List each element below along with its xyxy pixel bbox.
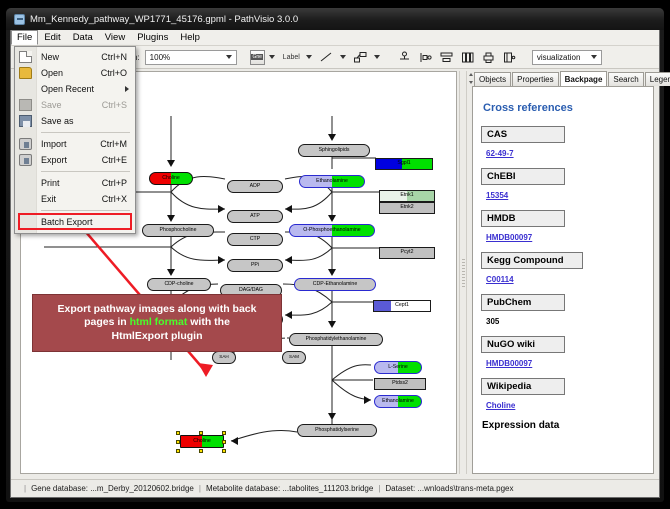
menu-item-batch-export-label: Batch Export	[41, 217, 93, 227]
menu-edit[interactable]: Edit	[38, 30, 66, 45]
menu-file[interactable]: File	[11, 30, 38, 45]
line-dropdown-arrow[interactable]	[340, 55, 346, 59]
callout-line1: Export pathway images along with back	[58, 303, 257, 315]
status-bar: | Gene database: ...m_Derby_20120602.bri…	[11, 479, 659, 497]
application-client-area: File Edit Data View Plugins Help Zoom: 1…	[10, 30, 660, 498]
callout-line2-a: pages in	[84, 316, 130, 328]
submenu-arrow-icon	[125, 86, 129, 92]
side-panel: Objects Properties Backpage Search Legen…	[469, 71, 656, 474]
menu-item-save-as-label: Save as	[41, 116, 74, 126]
xref-value-chebi[interactable]: 15354	[481, 188, 508, 208]
status-divider-1: |	[194, 484, 206, 493]
title-bar: Mm_Kennedy_pathway_WP1771_45176.gpml - P…	[6, 8, 664, 30]
status-gene-database: Gene database: ...m_Derby_20120602.bridg…	[31, 484, 194, 493]
menu-view[interactable]: View	[99, 30, 131, 45]
menu-item-new[interactable]: New Ctrl+N	[15, 49, 135, 65]
visualization-value: visualization	[537, 53, 581, 62]
status-divider-0: |	[19, 484, 31, 493]
menu-data[interactable]: Data	[67, 30, 99, 45]
tab-scroll-down-icon	[469, 81, 473, 84]
menu-item-save: Save Ctrl+S	[15, 97, 135, 113]
menu-item-save-label: Save	[41, 100, 62, 110]
tab-scroll-arrows[interactable]	[469, 73, 474, 84]
xref-header-hmdb: HMDB	[481, 210, 565, 227]
menu-item-import[interactable]: Import Ctrl+M	[15, 136, 135, 152]
xref-value-cas[interactable]: 62-49-7	[481, 146, 514, 166]
side-panel-tabs: Objects Properties Backpage Search Legen…	[469, 71, 656, 86]
printer-icon	[482, 51, 495, 64]
distribute-icon	[440, 51, 453, 64]
pathvisio-icon	[14, 14, 25, 25]
callout-line3: HtmlExport plugin	[112, 330, 203, 342]
export-icon	[19, 154, 32, 166]
menu-separator-2	[41, 171, 130, 172]
xref-header-pubchem: PubChem	[481, 294, 565, 311]
tab-objects[interactable]: Objects	[474, 72, 511, 86]
sidebar-toggle-button[interactable]	[501, 49, 519, 66]
xref-value-nugo[interactable]: HMDB00097	[481, 356, 532, 376]
menu-item-print-label: Print	[41, 178, 60, 188]
application-window: Mm_Kennedy_pathway_WP1771_45176.gpml - P…	[6, 8, 664, 502]
shape-tool-button[interactable]	[352, 49, 370, 66]
xref-header-nugo: NuGO wiki	[481, 336, 565, 353]
xref-header-wikipedia: Wikipedia	[481, 378, 565, 395]
xref-header-cas: CAS	[481, 126, 565, 143]
menu-item-new-shortcut: Ctrl+N	[101, 52, 127, 62]
menu-item-export-shortcut: Ctrl+E	[102, 155, 127, 165]
print-button[interactable]	[480, 49, 498, 66]
menu-item-exit-shortcut: Ctrl+X	[102, 194, 127, 204]
menu-plugins[interactable]: Plugins	[131, 30, 174, 45]
splitter-grip[interactable]	[462, 259, 465, 287]
tab-search[interactable]: Search	[608, 72, 643, 86]
menu-item-open-shortcut: Ctrl+O	[101, 68, 127, 78]
callout-line2-highlight: html format	[130, 316, 188, 328]
file-menu-dropdown[interactable]: New Ctrl+N Open Ctrl+O Open Recent Save …	[14, 46, 136, 234]
xref-header-chebi: ChEBI	[481, 168, 565, 185]
status-dataset: Dataset: ...wnloads\trans-meta.pgex	[385, 484, 513, 493]
expression-data-heading: Expression data	[482, 420, 645, 431]
menu-item-exit[interactable]: Exit Ctrl+X	[15, 191, 135, 207]
status-metabolite-database: Metabolite database: ...tabolites_111203…	[206, 484, 373, 493]
menu-item-open-recent[interactable]: Open Recent	[15, 81, 135, 97]
visualization-combobox[interactable]: visualization	[532, 50, 602, 65]
size-icon	[461, 51, 474, 64]
menu-item-batch-export[interactable]: Batch Export	[15, 214, 135, 230]
xref-value-wikipedia[interactable]: Choline	[481, 398, 515, 418]
menu-separator-3	[41, 210, 130, 211]
zoom-combobox[interactable]: 100%	[145, 50, 237, 65]
label-tool-button[interactable]: Label	[281, 50, 302, 64]
save-disk-icon	[19, 99, 32, 111]
open-folder-icon	[19, 67, 32, 79]
datanode-dropdown-arrow[interactable]	[269, 55, 275, 59]
menu-item-save-as[interactable]: Save as	[15, 113, 135, 129]
size-button[interactable]	[459, 49, 477, 66]
shape-icon	[354, 52, 367, 63]
align-left-icon	[419, 51, 432, 64]
menu-item-import-label: Import	[41, 139, 67, 149]
chevron-down-icon	[226, 55, 232, 59]
menu-item-exit-label: Exit	[41, 194, 56, 204]
tab-properties[interactable]: Properties	[512, 72, 558, 86]
xref-header-kegg: Kegg Compound	[481, 252, 583, 269]
menu-help[interactable]: Help	[174, 30, 206, 45]
panel-icon	[503, 51, 516, 64]
panel-splitter[interactable]	[459, 71, 467, 474]
menu-item-open[interactable]: Open Ctrl+O	[15, 65, 135, 81]
menu-bar: File Edit Data View Plugins Help	[11, 30, 659, 46]
menu-item-print[interactable]: Print Ctrl+P	[15, 175, 135, 191]
menu-item-open-label: Open	[41, 68, 63, 78]
tab-backpage[interactable]: Backpage	[560, 71, 608, 86]
menu-separator-1	[41, 132, 130, 133]
chevron-down-icon-2	[591, 55, 597, 59]
backpage-content: Cross references CAS 62-49-7 ChEBI 15354…	[472, 86, 654, 474]
menu-item-open-recent-label: Open Recent	[41, 84, 94, 94]
distribute-button[interactable]	[438, 49, 456, 66]
label-dropdown-arrow[interactable]	[306, 55, 312, 59]
xref-value-hmdb[interactable]: HMDB00097	[481, 230, 532, 250]
align-top-button[interactable]	[396, 49, 414, 66]
import-icon	[19, 138, 32, 150]
datanode-icon: Gne	[251, 54, 262, 60]
tab-legend[interactable]: Legend	[645, 72, 670, 86]
window-title: Mm_Kennedy_pathway_WP1771_45176.gpml - P…	[30, 14, 298, 25]
backpage-title: Cross references	[483, 102, 645, 114]
screenshot-root: Mm_Kennedy_pathway_WP1771_45176.gpml - P…	[0, 0, 670, 509]
menu-item-save-shortcut: Ctrl+S	[102, 100, 127, 110]
callout-line2-b: with the	[187, 316, 230, 328]
datanode-tool-button[interactable]: Gne	[250, 50, 265, 65]
menu-item-export[interactable]: Export Ctrl+E	[15, 152, 135, 168]
new-document-icon	[19, 51, 32, 63]
align-left-button[interactable]	[417, 49, 435, 66]
line-icon	[320, 52, 333, 62]
menu-item-import-shortcut: Ctrl+M	[100, 139, 127, 149]
line-tool-button[interactable]	[318, 49, 336, 66]
xref-value-kegg[interactable]: C00114	[481, 272, 514, 292]
annotation-callout: Export pathway images along with back pa…	[32, 294, 282, 352]
align-top-icon	[398, 51, 411, 64]
menu-item-export-label: Export	[41, 155, 67, 165]
menu-item-print-shortcut: Ctrl+P	[102, 178, 127, 188]
shape-dropdown-arrow[interactable]	[374, 55, 380, 59]
tab-scroll-up-icon	[469, 73, 473, 76]
menu-item-new-label: New	[41, 52, 59, 62]
xref-value-pubchem: 305	[481, 314, 499, 334]
zoom-value: 100%	[150, 53, 170, 62]
status-divider-2: |	[373, 484, 385, 493]
save-as-icon	[19, 115, 32, 127]
